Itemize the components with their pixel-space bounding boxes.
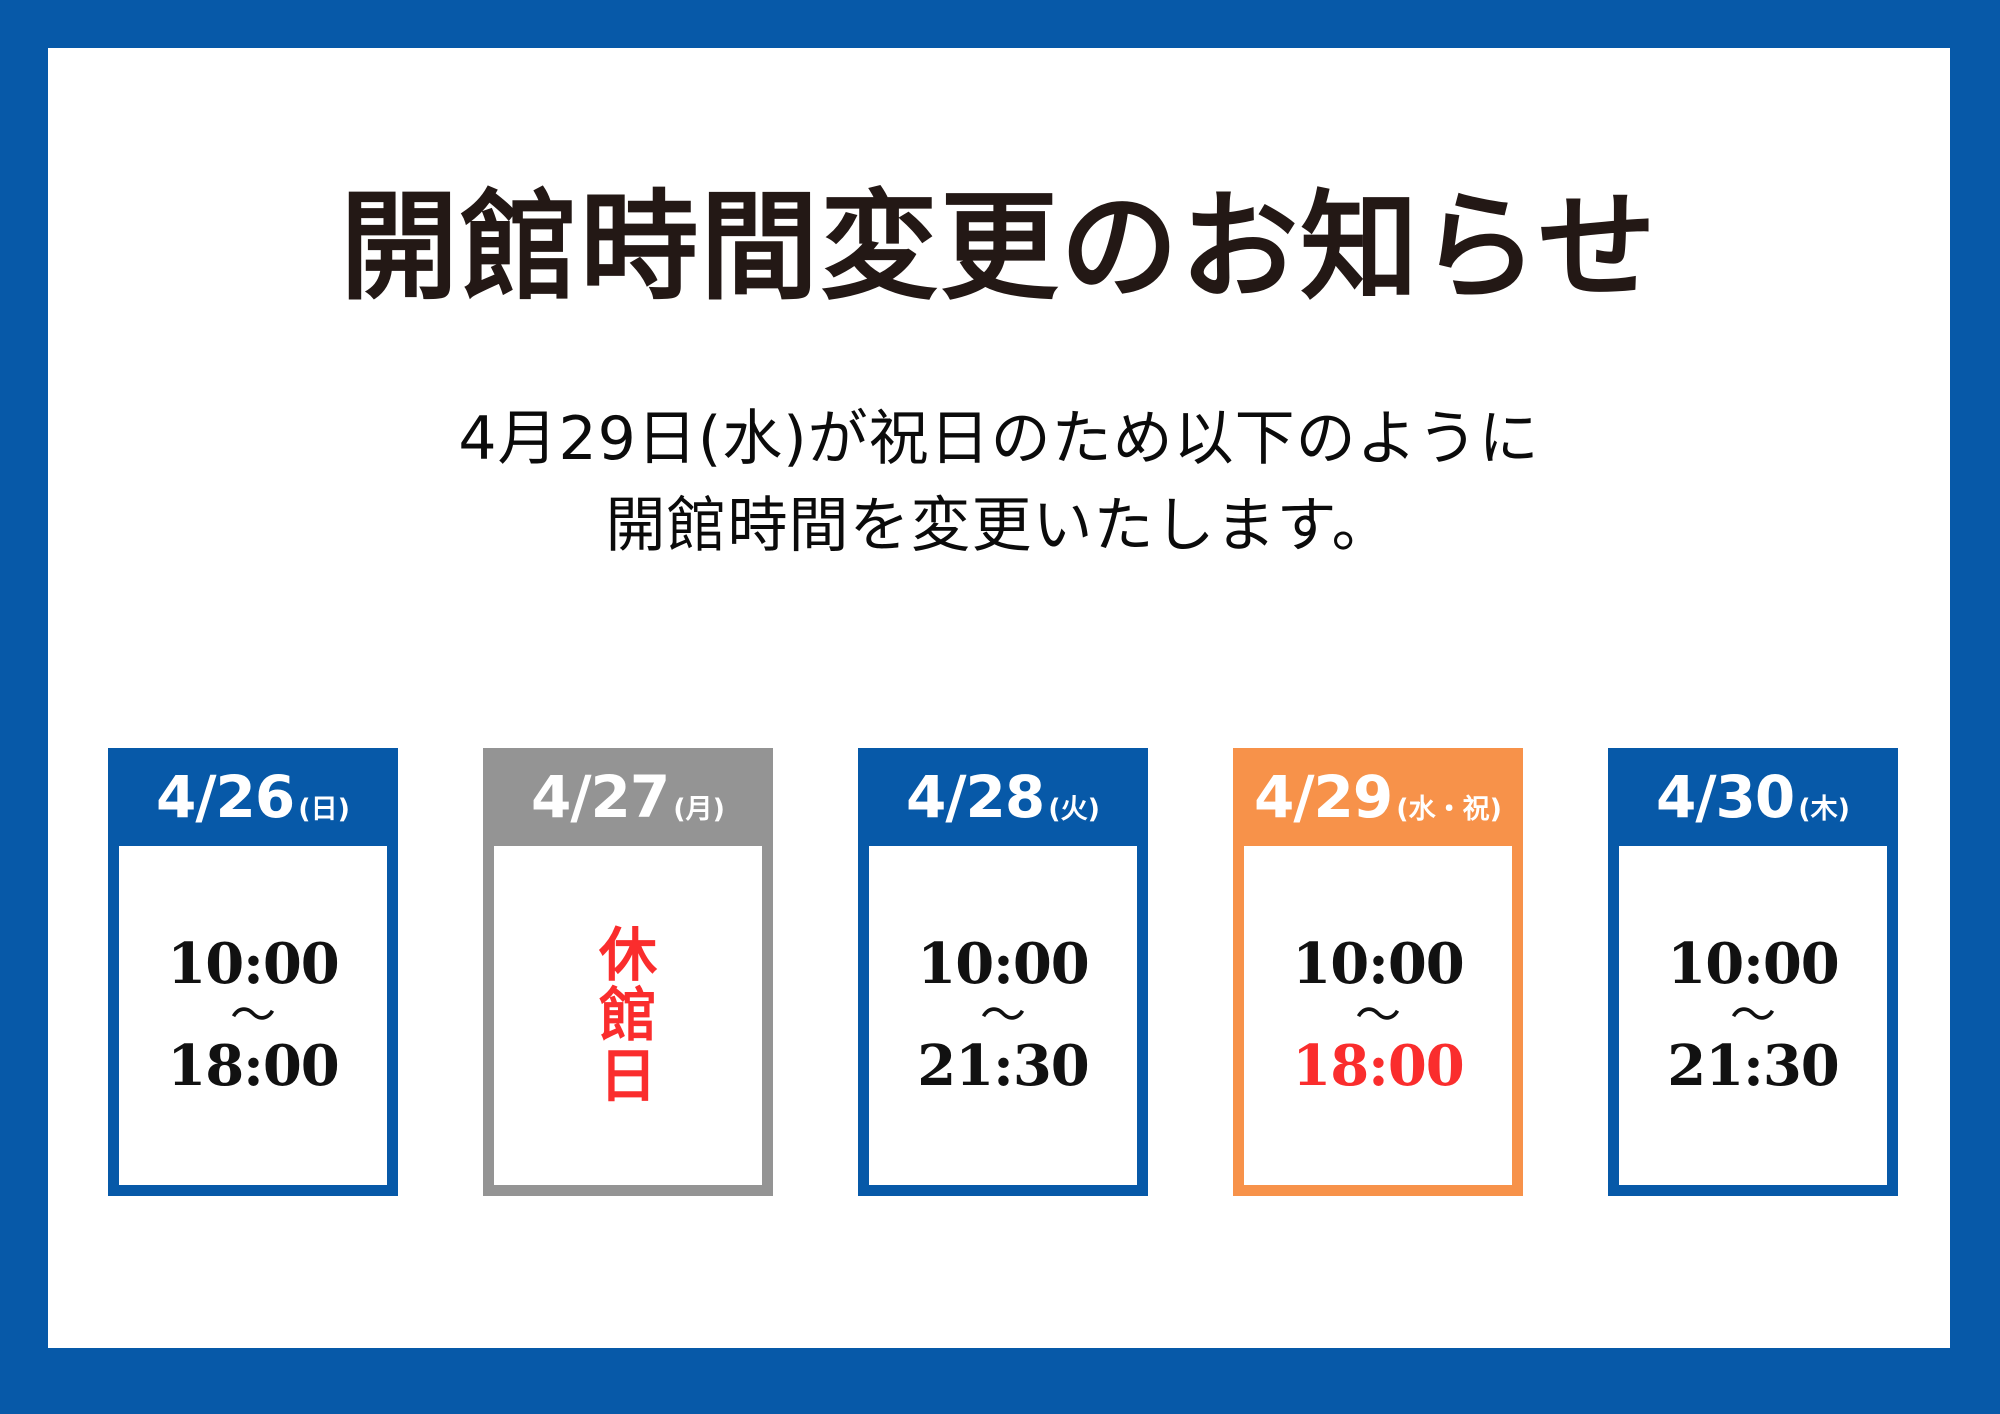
time-range-separator: 〜 — [1619, 994, 1887, 1038]
schedule-card-hours: 10:00〜18:00 — [119, 935, 387, 1096]
schedule-card-date: 4/29 — [1254, 763, 1392, 831]
time-range-separator: 〜 — [1244, 994, 1512, 1038]
open-time: 10:00 — [1619, 935, 1887, 994]
title-text: 開館時間変更のお知らせ — [340, 188, 1658, 306]
close-time: 18:00 — [1244, 1037, 1512, 1096]
notice-body: 4月29日(水)が祝日のため以下のように 開館時間を変更いたします。 — [48, 396, 1950, 570]
title-rest-segment: のお知らせ — [1060, 178, 1658, 316]
closed-day-char: 館 — [494, 985, 762, 1045]
time-range-separator: 〜 — [869, 994, 1137, 1038]
schedule-card-row: 4/26(日)10:00〜18:004/27(月)休館日4/28(火)10:00… — [108, 748, 1898, 1196]
schedule-card-weekday: (木) — [1798, 787, 1850, 826]
schedule-card: 4/30(木)10:00〜21:30 — [1608, 748, 1898, 1196]
schedule-card-hours: 10:00〜21:30 — [869, 935, 1137, 1096]
open-time: 10:00 — [869, 935, 1137, 994]
schedule-card-body: 10:00〜21:30 — [858, 846, 1148, 1196]
page-title: 開館時間変更のお知らせ — [48, 188, 1950, 306]
schedule-card-date: 4/30 — [1656, 763, 1794, 831]
close-time: 21:30 — [869, 1037, 1137, 1096]
schedule-card-hours: 10:00〜21:30 — [1619, 935, 1887, 1096]
poster-paper: 開館時間変更のお知らせ 4月29日(水)が祝日のため以下のように 開館時間を変更… — [48, 48, 1950, 1348]
schedule-card-date: 4/26 — [156, 763, 294, 831]
schedule-card: 4/29(水・祝)10:00〜18:00 — [1233, 748, 1523, 1196]
open-time: 10:00 — [119, 935, 387, 994]
time-range-separator: 〜 — [119, 994, 387, 1038]
notice-body-line-2: 開館時間を変更いたします。 — [48, 483, 1950, 570]
schedule-card-date: 4/27 — [531, 763, 669, 831]
schedule-card: 4/28(火)10:00〜21:30 — [858, 748, 1148, 1196]
schedule-card-hours: 休館日 — [494, 925, 762, 1106]
closed-day-char: 休 — [494, 925, 762, 985]
schedule-card-weekday: (日) — [298, 787, 350, 826]
schedule-card: 4/26(日)10:00〜18:00 — [108, 748, 398, 1196]
schedule-card-header: 4/27(月) — [483, 748, 773, 846]
schedule-card-body: 休館日 — [483, 846, 773, 1196]
close-time: 21:30 — [1619, 1037, 1887, 1096]
schedule-card-weekday: (月) — [673, 787, 725, 826]
schedule-card-header: 4/30(木) — [1608, 748, 1898, 846]
schedule-card-header: 4/26(日) — [108, 748, 398, 846]
notice-body-line-1: 4月29日(水)が祝日のため以下のように — [48, 396, 1950, 483]
schedule-card-header: 4/28(火) — [858, 748, 1148, 846]
schedule-card-header: 4/29(水・祝) — [1233, 748, 1523, 846]
schedule-card-body: 10:00〜18:00 — [108, 846, 398, 1196]
schedule-card-hours: 10:00〜18:00 — [1244, 935, 1512, 1096]
schedule-card-weekday: (水・祝) — [1396, 787, 1502, 826]
schedule-card-weekday: (火) — [1048, 787, 1100, 826]
schedule-card-body: 10:00〜21:30 — [1608, 846, 1898, 1196]
close-time: 18:00 — [119, 1037, 387, 1096]
open-time: 10:00 — [1244, 935, 1512, 994]
title-highlighted-segment: 開館時間変更 — [340, 188, 1060, 306]
schedule-card-date: 4/28 — [906, 763, 1044, 831]
closed-day-label: 休館日 — [494, 925, 762, 1106]
closed-day-char: 日 — [494, 1046, 762, 1106]
schedule-card-body: 10:00〜18:00 — [1233, 846, 1523, 1196]
poster-root: 開館時間変更のお知らせ 4月29日(水)が祝日のため以下のように 開館時間を変更… — [0, 0, 2000, 1414]
schedule-card: 4/27(月)休館日 — [483, 748, 773, 1196]
